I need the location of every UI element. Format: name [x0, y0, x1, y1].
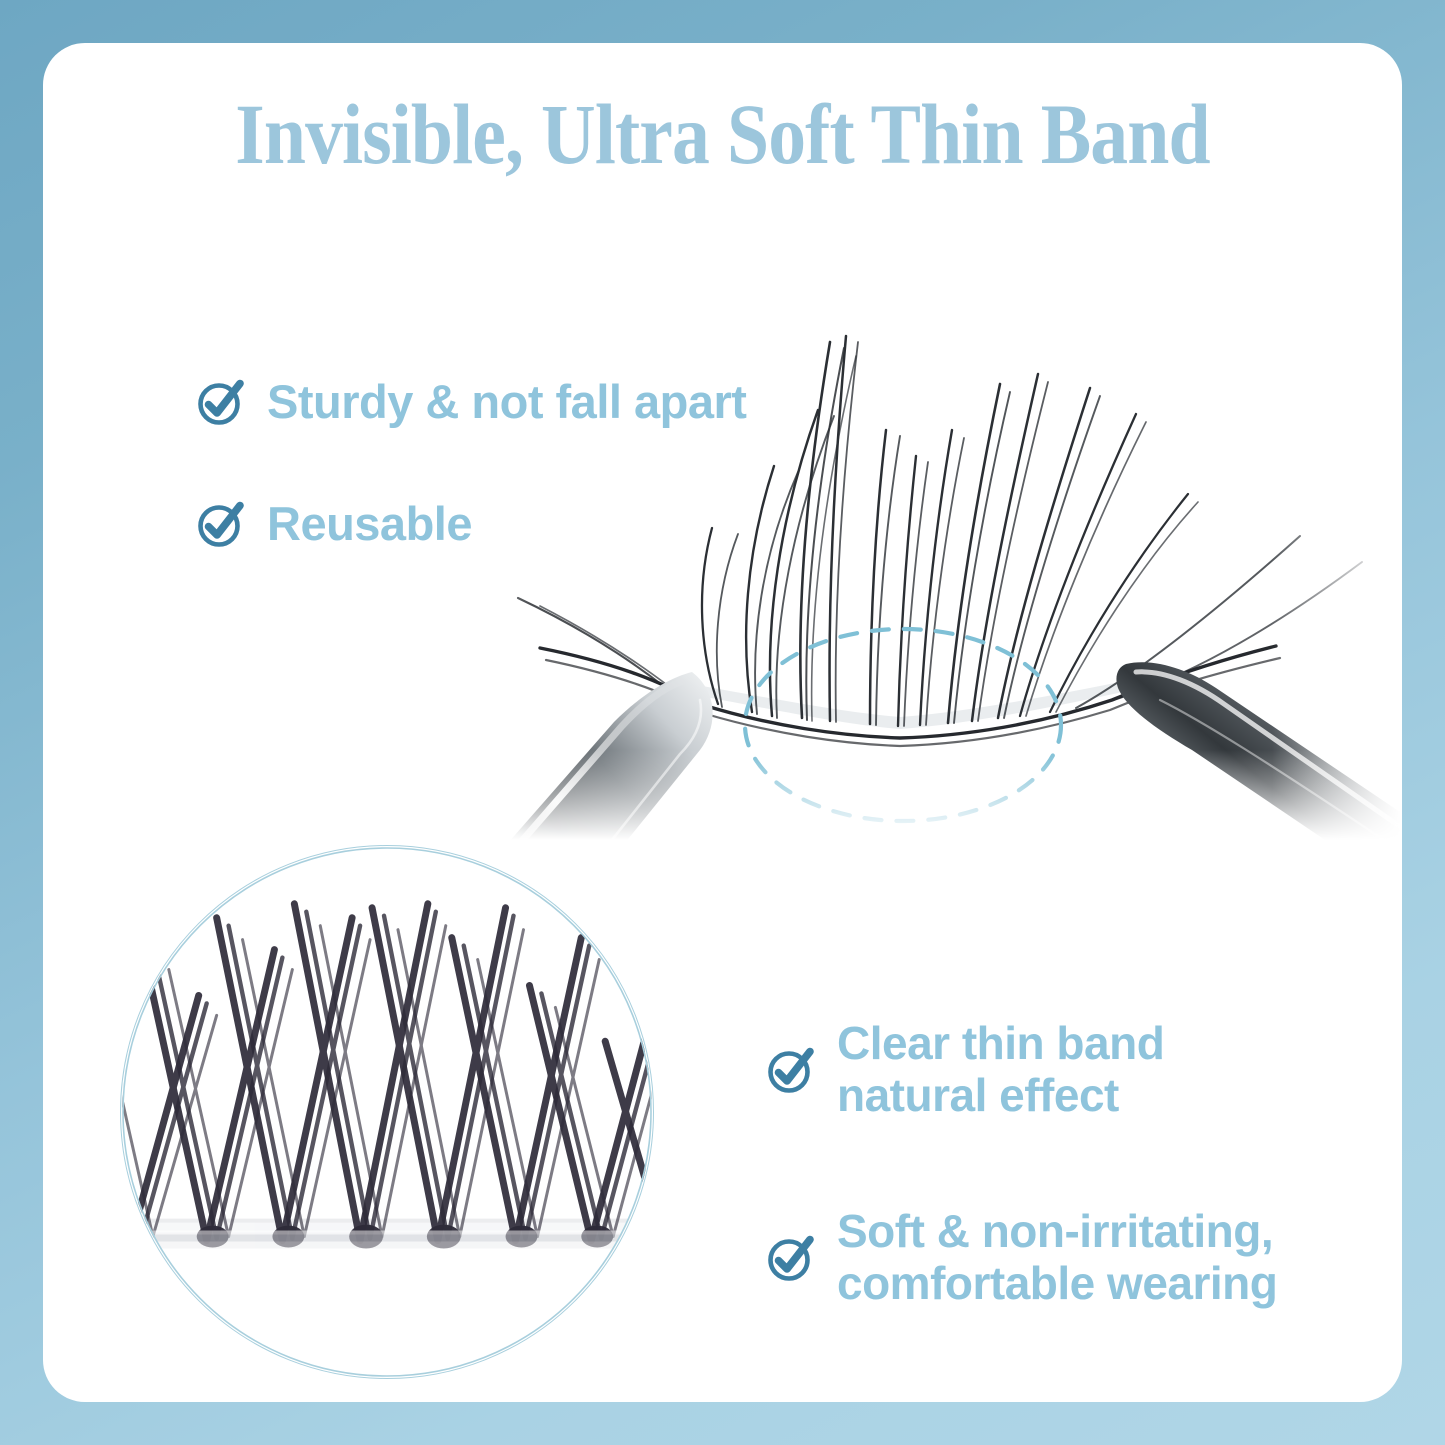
feature-item-sturdy: Sturdy & not fall apart	[195, 376, 746, 429]
check-circle-icon	[765, 1232, 817, 1284]
feature-item-reusable: Reusable	[195, 498, 472, 551]
feature-item-soft: Soft & non-irritating, comfortable weari…	[765, 1206, 1277, 1309]
tweezers-lash-photo	[400, 280, 1402, 840]
page-title: Invisible, Ultra Soft Thin Band	[125, 91, 1321, 177]
feature-label-reusable: Reusable	[267, 498, 472, 551]
feature-item-clear-band: Clear thin band natural effect	[765, 1018, 1164, 1121]
poster-canvas: Invisible, Ultra Soft Thin Band	[0, 0, 1445, 1445]
check-circle-icon	[765, 1044, 817, 1096]
feature-label-sturdy: Sturdy & not fall apart	[267, 376, 746, 429]
check-circle-icon	[195, 376, 247, 428]
lash-band-macro-inset	[120, 845, 654, 1379]
transparent-band-strip	[121, 1231, 653, 1249]
feature-label-clear-band: Clear thin band natural effect	[837, 1018, 1164, 1121]
white-panel: Invisible, Ultra Soft Thin Band	[43, 43, 1402, 1402]
check-circle-icon	[195, 498, 247, 550]
feature-label-soft: Soft & non-irritating, comfortable weari…	[837, 1206, 1277, 1309]
